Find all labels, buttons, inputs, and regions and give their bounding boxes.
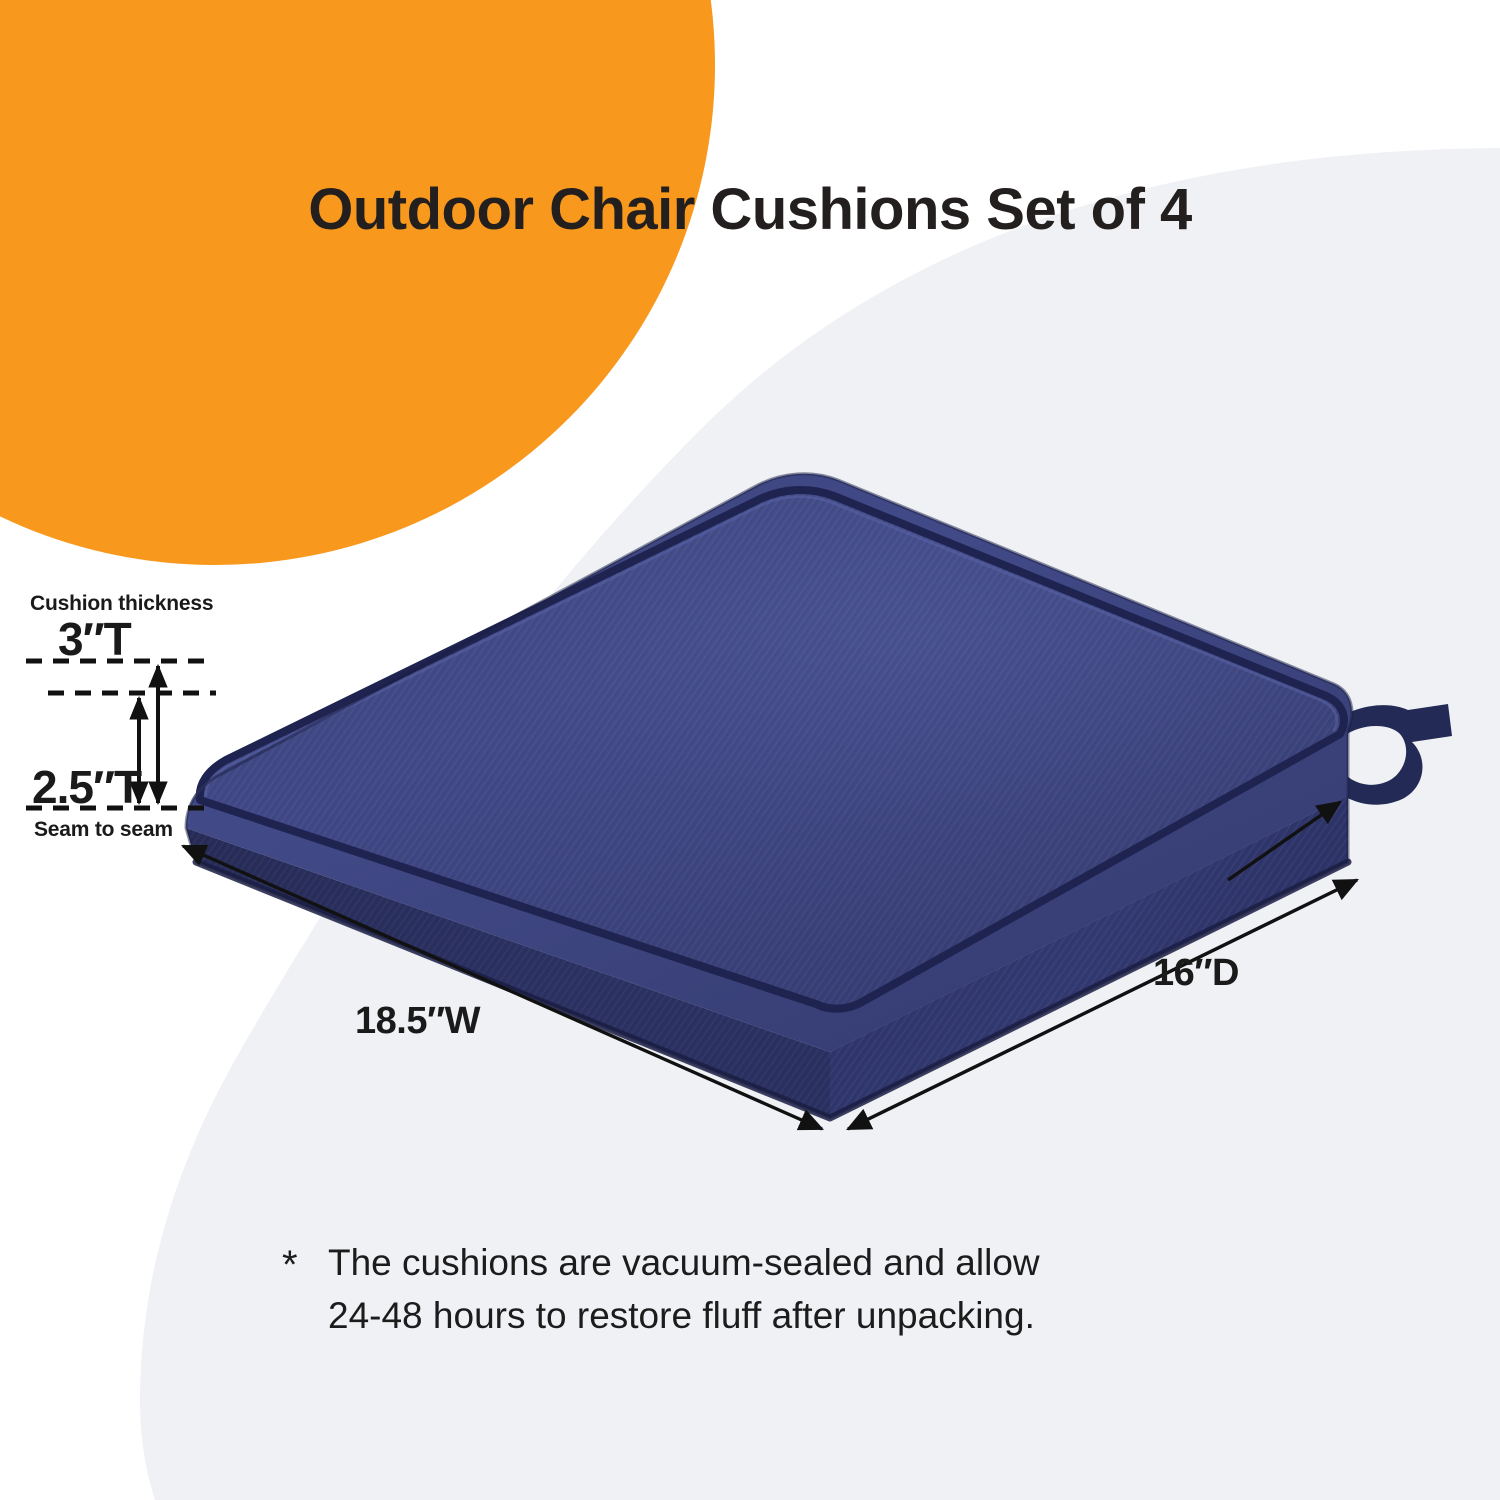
depth-value: 16″D — [1153, 952, 1239, 995]
footnote: * The cushions are vacuum-sealed and all… — [282, 1237, 1262, 1342]
thickness-value: 3″T — [58, 612, 131, 666]
seam-caption: Seam to seam — [34, 818, 173, 842]
footnote-asterisk: * — [282, 1237, 298, 1294]
footnote-line-2: 24-48 hours to restore fluff after unpac… — [328, 1290, 1262, 1343]
footnote-line-1: The cushions are vacuum-sealed and allow — [328, 1237, 1262, 1290]
seam-value: 2.5″T — [32, 760, 141, 814]
product-infographic: Outdoor Chair Cushions Set of 4 — [0, 0, 1500, 1500]
width-value: 18.5″W — [355, 1000, 480, 1043]
